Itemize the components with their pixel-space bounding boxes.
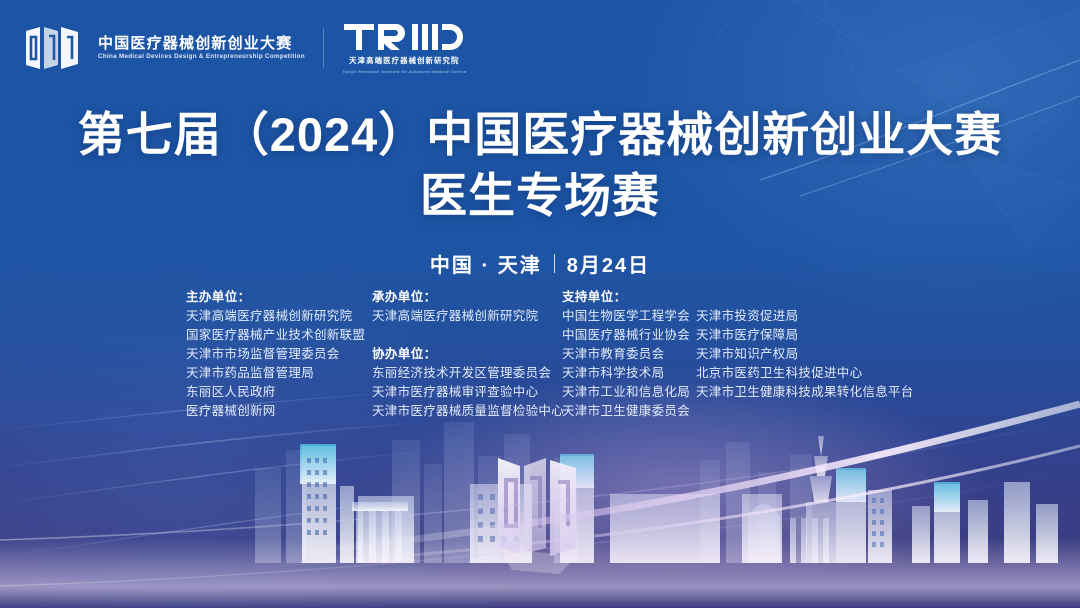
fan-hall-icon xyxy=(748,504,780,563)
coorganizer-item: 天津市医疗器械质量监督检验中心 xyxy=(372,402,562,421)
host-item: 东丽区人民政府 xyxy=(186,383,372,402)
supporter-item: 天津市教育委员会 xyxy=(562,345,696,364)
host-item: 天津市市场监督管理委员会 xyxy=(186,345,372,364)
light-streak xyxy=(0,422,430,470)
location-text: 中国 · 天津 xyxy=(430,249,542,278)
supporter-item: 天津市工业和信息化局 xyxy=(562,383,696,402)
column-spacer xyxy=(372,326,562,345)
host-item: 天津高端医疗器械创新研究院 xyxy=(186,307,372,326)
supporter-item: 北京市医药卫生科技促进中心 xyxy=(696,364,916,383)
light-streak xyxy=(260,446,1080,566)
supporter-item: 天津市卫生健康委员会 xyxy=(562,402,696,421)
supporter-item: 天津市科学技术局 xyxy=(562,364,696,383)
left-logo-cn-name: 中国医疗器械创新创业大赛 xyxy=(98,36,305,51)
left-logo-text: 中国医疗器械创新创业大赛 China Medical Devices Desig… xyxy=(98,36,305,60)
light-streak xyxy=(300,404,1080,552)
light-streak xyxy=(0,420,1080,540)
poster-title-line1: 第七届（2024）中国医疗器械创新创业大赛 xyxy=(0,108,1080,163)
organizers-column-supporter-2: 天津市投资促进局 天津市医疗保障局 天津市知识产权局 北京市医药卫生科技促进中心… xyxy=(696,288,916,402)
organizers-block: 主办单位： 天津高端医疗器械创新研究院 国家医疗器械产业技术创新联盟 天津市市场… xyxy=(186,288,916,421)
supporter-item: 天津市知识产权局 xyxy=(696,345,916,364)
coorganizer-item: 天津市医疗器械审评查验中心 xyxy=(372,383,562,402)
city-skyline-silhouette xyxy=(0,398,1080,608)
supporter-heading: 支持单位： xyxy=(562,288,696,307)
host-item: 国家医疗器械产业技术创新联盟 xyxy=(186,326,372,345)
logo-divider xyxy=(323,28,324,68)
light-streak xyxy=(0,492,470,560)
coorganizer-heading: 协办单位： xyxy=(372,345,562,364)
light-streak xyxy=(0,450,440,506)
right-logo: 天津高端医疗器械创新研究院 Tianjin Research Institute… xyxy=(342,22,467,74)
supporter-item: 天津市卫生健康科技成果转化信息平台 xyxy=(696,383,916,402)
undertaker-item: 天津高端医疗器械创新研究院 xyxy=(372,307,562,326)
right-logo-cn-name: 天津高端医疗器械创新研究院 xyxy=(349,55,459,66)
organizers-column-supporter-1: 支持单位： 中国生物医学工程学会 中国医疗器械行业协会 天津市教育委员会 天津市… xyxy=(562,288,696,421)
coorganizer-item: 东丽经济技术开发区管理委员会 xyxy=(372,364,562,383)
host-heading: 主办单位： xyxy=(186,288,372,307)
location-date-line: 中国 · 天津 8月24日 xyxy=(0,249,1080,278)
poster-title-line2: 医生专场赛 xyxy=(0,169,1080,224)
subtitle-separator xyxy=(554,254,555,273)
right-logo-en-name: Tianjin Research Institute for Advanced … xyxy=(342,69,467,74)
organizers-column-undertaker: 承办单位： 天津高端医疗器械创新研究院 协办单位： 东丽经济技术开发区管理委员会… xyxy=(372,288,562,421)
host-item: 医疗器械创新网 xyxy=(186,402,372,421)
undertaker-heading: 承办单位： xyxy=(372,288,562,307)
open-door-monument-icon xyxy=(498,458,576,574)
date-text: 8月24日 xyxy=(567,249,650,278)
column-spacer xyxy=(696,288,916,307)
triid-wordmark-icon xyxy=(344,22,464,52)
spire-tower-icon xyxy=(806,436,836,563)
host-item: 天津市药品监督管理局 xyxy=(186,364,372,383)
supporter-item: 天津市医疗保障局 xyxy=(696,326,916,345)
open-door-logo-icon xyxy=(24,25,80,71)
supporter-item: 中国生物医学工程学会 xyxy=(562,307,696,326)
organizers-column-host: 主办单位： 天津高端医疗器械创新研究院 国家医疗器械产业技术创新联盟 天津市市场… xyxy=(186,288,372,421)
conference-poster: 中国医疗器械创新创业大赛 China Medical Devices Desig… xyxy=(0,0,1080,608)
light-streak xyxy=(0,470,1080,586)
supporter-item: 天津市投资促进局 xyxy=(696,307,916,326)
supporter-item: 中国医疗器械行业协会 xyxy=(562,326,696,345)
left-logo-en-name: China Medical Devices Design & Entrepren… xyxy=(98,54,305,60)
header-logo-bar: 中国医疗器械创新创业大赛 China Medical Devices Desig… xyxy=(24,22,467,74)
title-block: 第七届（2024）中国医疗器械创新创业大赛 医生专场赛 中国 · 天津 8月24… xyxy=(0,108,1080,278)
